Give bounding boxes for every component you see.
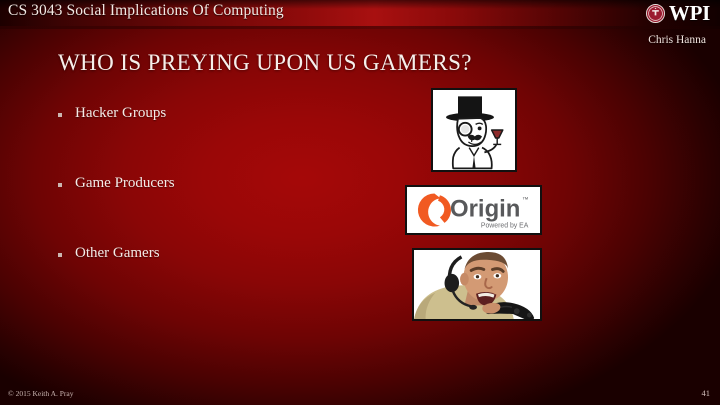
presentation-slide: CS 3043 Social Implications Of Computing… <box>0 0 720 405</box>
page-title: WHO IS PREYING UPON US GAMERS? <box>58 49 472 77</box>
slide-header-bar: CS 3043 Social Implications Of Computing <box>0 0 720 26</box>
angry-gamer-photo <box>412 248 542 321</box>
list-item: Hacker Groups <box>58 104 378 174</box>
bullet-label: Other Gamers <box>75 244 160 262</box>
bullet-label: Game Producers <box>75 174 175 192</box>
bullet-marker-icon <box>58 253 62 257</box>
bullet-label: Hacker Groups <box>75 104 166 122</box>
wpi-seal-icon <box>646 4 665 23</box>
list-item: Game Producers <box>58 174 378 244</box>
hacker-meme-image <box>431 88 517 172</box>
page-number: 41 <box>702 388 711 398</box>
presenter-name: Chris Hanna <box>648 34 706 46</box>
wpi-logo: WPI <box>646 0 710 26</box>
course-title: CS 3043 Social Implications Of Computing <box>8 2 284 20</box>
origin-logo-image: Origin ™ Powered by EA <box>405 185 542 235</box>
header-divider <box>0 26 720 29</box>
bullet-list: Hacker Groups Game Producers Other Gamer… <box>58 104 378 314</box>
origin-wordmark-text: Origin <box>450 195 520 222</box>
bullet-marker-icon <box>58 113 62 117</box>
wpi-wordmark: WPI <box>669 3 710 24</box>
list-item: Other Gamers <box>58 244 378 314</box>
origin-tagline-text: Powered by EA <box>481 222 529 229</box>
copyright-notice: © 2015 Keith A. Pray <box>8 389 74 398</box>
svg-text:™: ™ <box>522 197 528 204</box>
bullet-marker-icon <box>58 183 62 187</box>
